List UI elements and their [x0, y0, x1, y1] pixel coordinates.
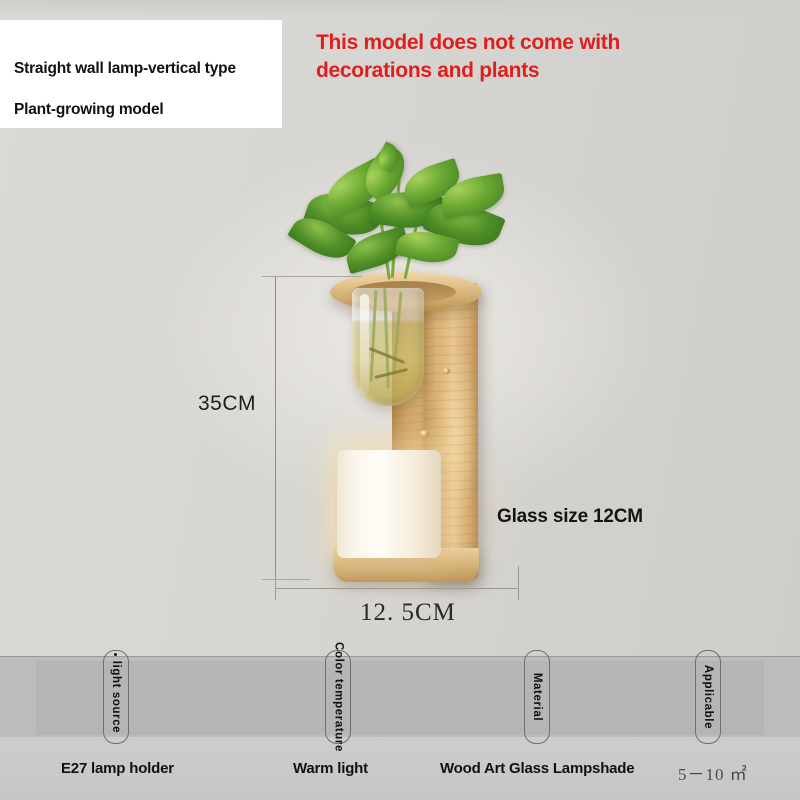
spec-bar-inner-shade — [36, 661, 764, 735]
vase-highlight — [360, 294, 369, 394]
height-dimension-line — [275, 276, 276, 580]
spec-tag-applicable: Applicable — [695, 650, 721, 744]
screw-icon — [443, 368, 450, 374]
spec-tag-label: Material — [531, 673, 543, 721]
spec-tag-color-temperature: Color temperature — [325, 650, 351, 744]
red-warning-note: This model does not come with decoration… — [316, 29, 716, 85]
red-note-line-2: decorations and plants — [316, 57, 716, 85]
spec-value-color-temperature: Warm light — [293, 760, 368, 777]
glass-size-label: Glass size 12CM — [497, 506, 643, 528]
width-dimension-tick-right — [518, 566, 519, 600]
spec-tag-label: light source — [110, 661, 122, 733]
product-image: 35CM 12. 5CM Glass size 12CM Straight wa… — [0, 0, 800, 800]
plant-root — [370, 290, 378, 382]
spec-value-material: Wood Art Glass Lampshade — [440, 760, 634, 777]
spec-tag-material: Material — [524, 650, 550, 744]
height-dimension-tick-top — [262, 276, 362, 277]
spec-tag-light-source: light source — [103, 650, 129, 744]
spec-tag-label: Applicable — [702, 665, 714, 729]
title-card: Straight wall lamp-vertical type Plant-g… — [0, 20, 282, 128]
plant-root — [374, 368, 408, 379]
spec-tag-label: Color temperature — [332, 642, 345, 752]
title-line-1: Straight wall lamp-vertical type — [14, 60, 236, 78]
spec-value-applicable: 5－10 ㎡ — [678, 760, 748, 785]
height-dimension-label: 35CM — [198, 392, 256, 416]
spec-value-light-source: E27 lamp holder — [61, 760, 174, 777]
title-line-2: Plant-growing model — [14, 101, 163, 119]
red-note-line-1: This model does not come with — [316, 29, 716, 57]
width-dimension-line — [275, 588, 519, 589]
width-dimension-label: 12. 5CM — [360, 599, 456, 627]
pothos-plant-icon — [285, 148, 515, 288]
glass-lampshade-icon — [337, 450, 441, 558]
glass-vase-icon — [352, 288, 424, 406]
height-dimension-tick-bottom — [262, 579, 310, 580]
screw-icon — [420, 430, 429, 437]
bullet-dot-icon — [114, 653, 117, 656]
width-dimension-tick-left — [275, 574, 276, 600]
